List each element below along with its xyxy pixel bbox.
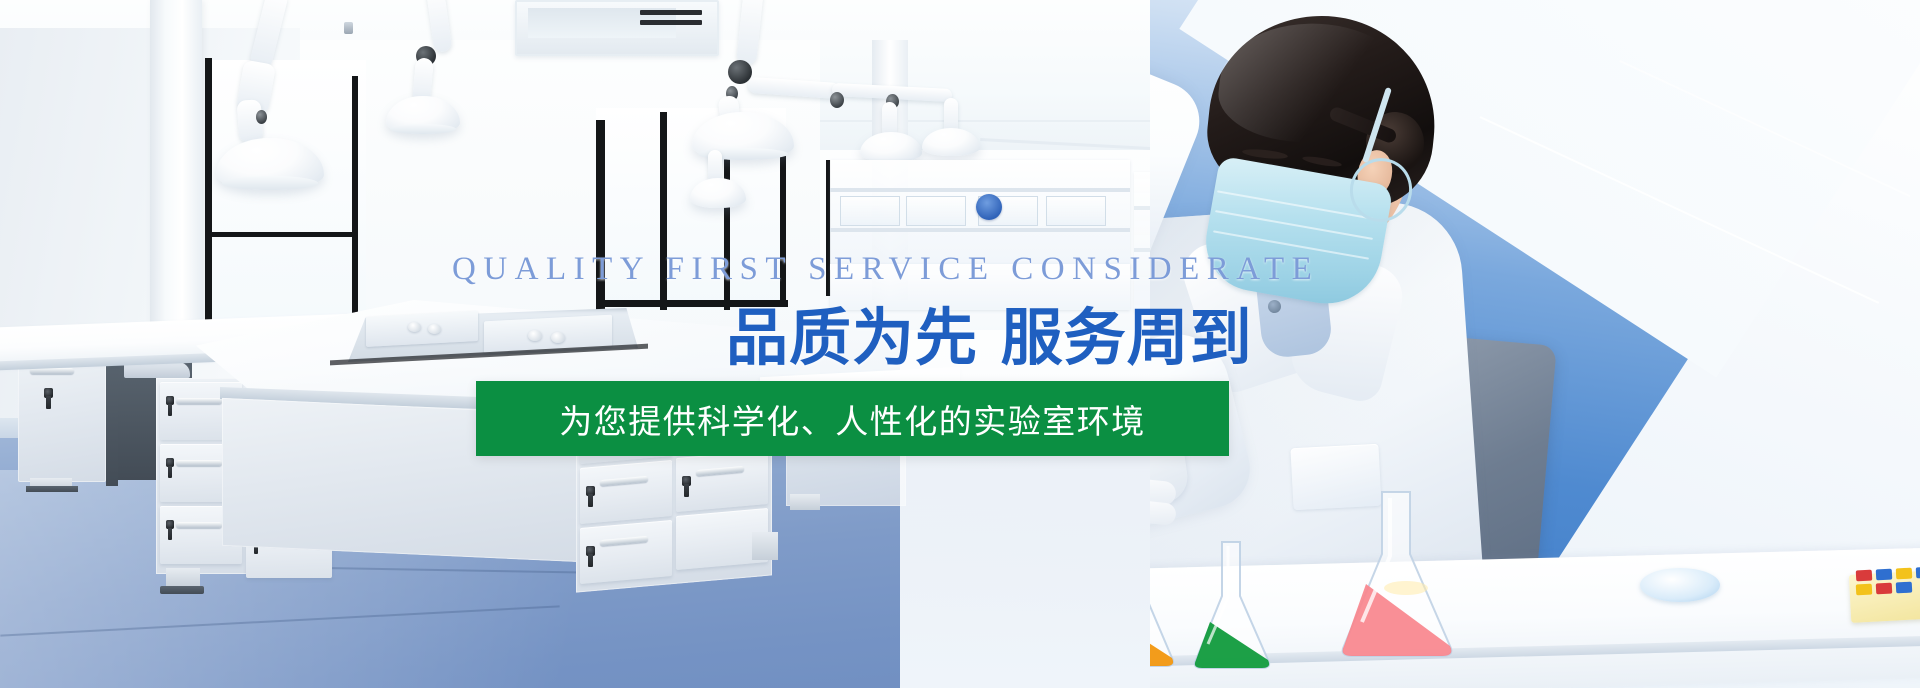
drawer-key-icon <box>168 528 172 540</box>
window-mullion <box>206 232 358 237</box>
window-mullion <box>352 76 358 324</box>
erlenmeyer-flask-green <box>1184 540 1280 675</box>
wall-logo-badge-icon <box>976 194 1002 220</box>
sprinkler-icon <box>344 22 353 34</box>
cabinet-side <box>106 350 118 486</box>
banner-eyebrow-text: QUALITY FIRST SERVICE CONSIDERATE <box>452 250 1319 288</box>
tip-yellow <box>1896 568 1913 580</box>
scientist-panel <box>1150 0 1920 688</box>
shelf-panel <box>840 196 900 226</box>
drawer-key-icon <box>168 404 172 416</box>
drawer-cabinet-icon <box>18 356 106 482</box>
cabinet-foot <box>160 586 204 594</box>
tip-red <box>1856 570 1873 582</box>
erlenmeyer-flask-orange <box>1150 552 1182 672</box>
window-mullion <box>205 58 212 340</box>
drawer-key-icon <box>588 494 593 507</box>
shelf-rail <box>830 228 1130 232</box>
window-icon <box>206 60 366 340</box>
service-knob <box>551 332 565 343</box>
structural-column <box>150 0 202 330</box>
drawer-key-icon <box>588 554 593 567</box>
banner-subtitle-bar: 为您提供科学化、人性化的实验室环境 <box>476 381 1229 456</box>
shelf-rail <box>830 188 1130 192</box>
cabinet-foot <box>166 568 200 588</box>
tip-yellow <box>1856 584 1873 596</box>
arm-joint <box>256 110 267 124</box>
banner-subtitle-text: 为您提供科学化、人性化的实验室环境 <box>559 395 1146 443</box>
shelf-panel <box>906 196 966 226</box>
dome-lamp-rim <box>390 124 456 134</box>
drawer-handle <box>176 398 222 404</box>
erlenmeyer-flask-pink <box>1332 488 1462 663</box>
cabinet-foot <box>752 532 778 560</box>
service-outlet-plate <box>366 311 478 347</box>
tip-blue <box>1896 582 1913 594</box>
ac-grille <box>640 20 702 25</box>
petri-dish-icon <box>1640 568 1720 602</box>
tip-red <box>1876 583 1893 595</box>
drawer-handle <box>176 522 222 528</box>
service-knob <box>428 324 441 334</box>
banner-headline: 品质为先 服务周到 <box>726 300 1253 376</box>
tip-blue <box>1916 567 1920 579</box>
arm-joint <box>830 92 844 108</box>
lab-banner: QUALITY FIRST SERVICE CONSIDERATE 品质为先 服… <box>0 0 1920 688</box>
cabinet-key-icon <box>46 396 51 409</box>
tip-blue <box>1876 569 1893 581</box>
cabinet-foot <box>26 486 78 492</box>
shelf-panel <box>1046 196 1106 226</box>
shirt-button <box>1268 300 1281 313</box>
drawer-key-icon <box>684 484 689 497</box>
service-knob <box>528 330 542 341</box>
drawer-handle <box>176 460 222 466</box>
cabinet-foot <box>790 494 820 510</box>
service-knob <box>408 322 421 332</box>
dome-lamp-rim <box>222 176 318 190</box>
drawer-key-icon <box>168 466 172 478</box>
ac-grille <box>640 10 702 15</box>
